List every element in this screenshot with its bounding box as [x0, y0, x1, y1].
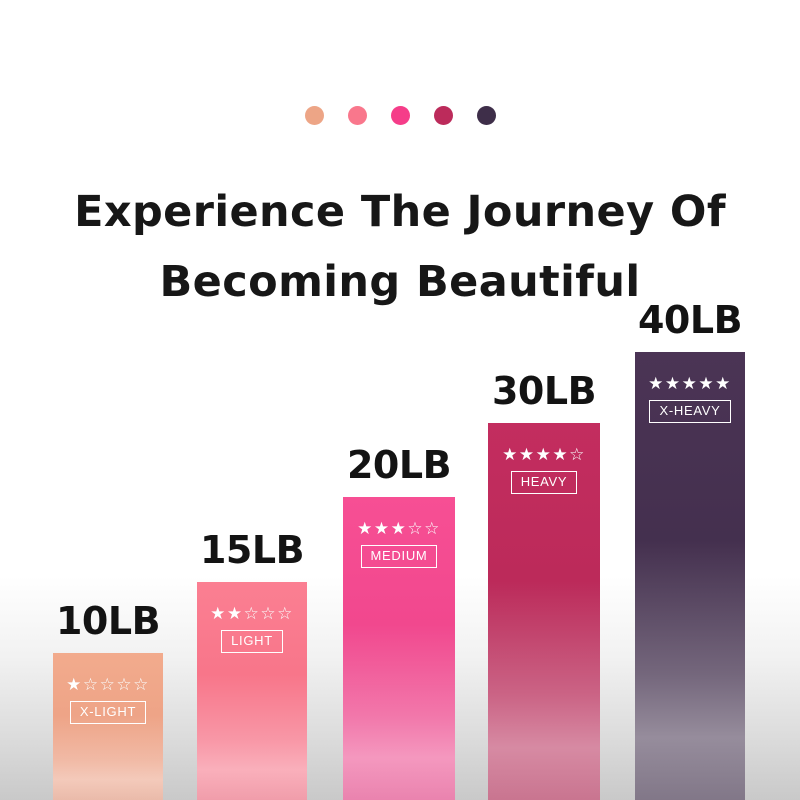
bar-20lb: ★★★☆☆MEDIUM	[343, 497, 455, 800]
bar-30lb-badge: ★★★★☆HEAVY	[488, 445, 600, 494]
resistance-bar-chart: 10LB★☆☆☆☆X-LIGHT15LB★★☆☆☆LIGHT20LB★★★☆☆M…	[0, 0, 800, 800]
bar-30lb-fade	[488, 581, 600, 800]
bar-40lb-star-rating: ★★★★★	[635, 374, 745, 393]
bar-20lb-group: 20LB★★★☆☆MEDIUM	[343, 437, 455, 800]
bar-20lb-star-rating: ★★★☆☆	[343, 519, 455, 538]
bar-20lb-tier-label: MEDIUM	[361, 545, 438, 568]
bar-10lb-group: 10LB★☆☆☆☆X-LIGHT	[53, 593, 163, 800]
bar-30lb: ★★★★☆HEAVY	[488, 423, 600, 800]
bar-15lb: ★★☆☆☆LIGHT	[197, 582, 307, 800]
bar-40lb-fade	[635, 540, 745, 800]
bar-10lb-star-rating: ★☆☆☆☆	[53, 675, 163, 694]
bar-15lb-group: 15LB★★☆☆☆LIGHT	[197, 522, 307, 800]
bar-15lb-star-rating: ★★☆☆☆	[197, 604, 307, 623]
bar-30lb-star-rating: ★★★★☆	[488, 445, 600, 464]
bar-30lb-tier-label: HEAVY	[511, 471, 578, 494]
bar-10lb-tier-label: X-LIGHT	[70, 701, 146, 724]
promo-poster: Experience The Journey Of Becoming Beaut…	[0, 0, 800, 800]
bar-10lb-badge: ★☆☆☆☆X-LIGHT	[53, 675, 163, 724]
bar-40lb-tier-label: X-HEAVY	[649, 400, 730, 423]
bar-30lb-value-label: 30LB	[492, 370, 596, 412]
bar-40lb: ★★★★★X-HEAVY	[635, 352, 745, 800]
bar-20lb-badge: ★★★☆☆MEDIUM	[343, 519, 455, 568]
bar-40lb-value-label: 40LB	[638, 299, 742, 341]
bar-20lb-value-label: 20LB	[347, 444, 451, 486]
bar-20lb-fade	[343, 624, 455, 800]
bar-40lb-group: 40LB★★★★★X-HEAVY	[635, 292, 745, 800]
bar-10lb-value-label: 10LB	[56, 600, 160, 642]
bar-30lb-group: 30LB★★★★☆HEAVY	[488, 363, 600, 800]
bar-15lb-tier-label: LIGHT	[221, 630, 283, 653]
bar-15lb-badge: ★★☆☆☆LIGHT	[197, 604, 307, 653]
bar-15lb-fade	[197, 674, 307, 800]
bar-10lb-fade	[53, 715, 163, 800]
bar-15lb-value-label: 15LB	[200, 529, 304, 571]
bar-10lb: ★☆☆☆☆X-LIGHT	[53, 653, 163, 800]
bar-40lb-badge: ★★★★★X-HEAVY	[635, 374, 745, 423]
